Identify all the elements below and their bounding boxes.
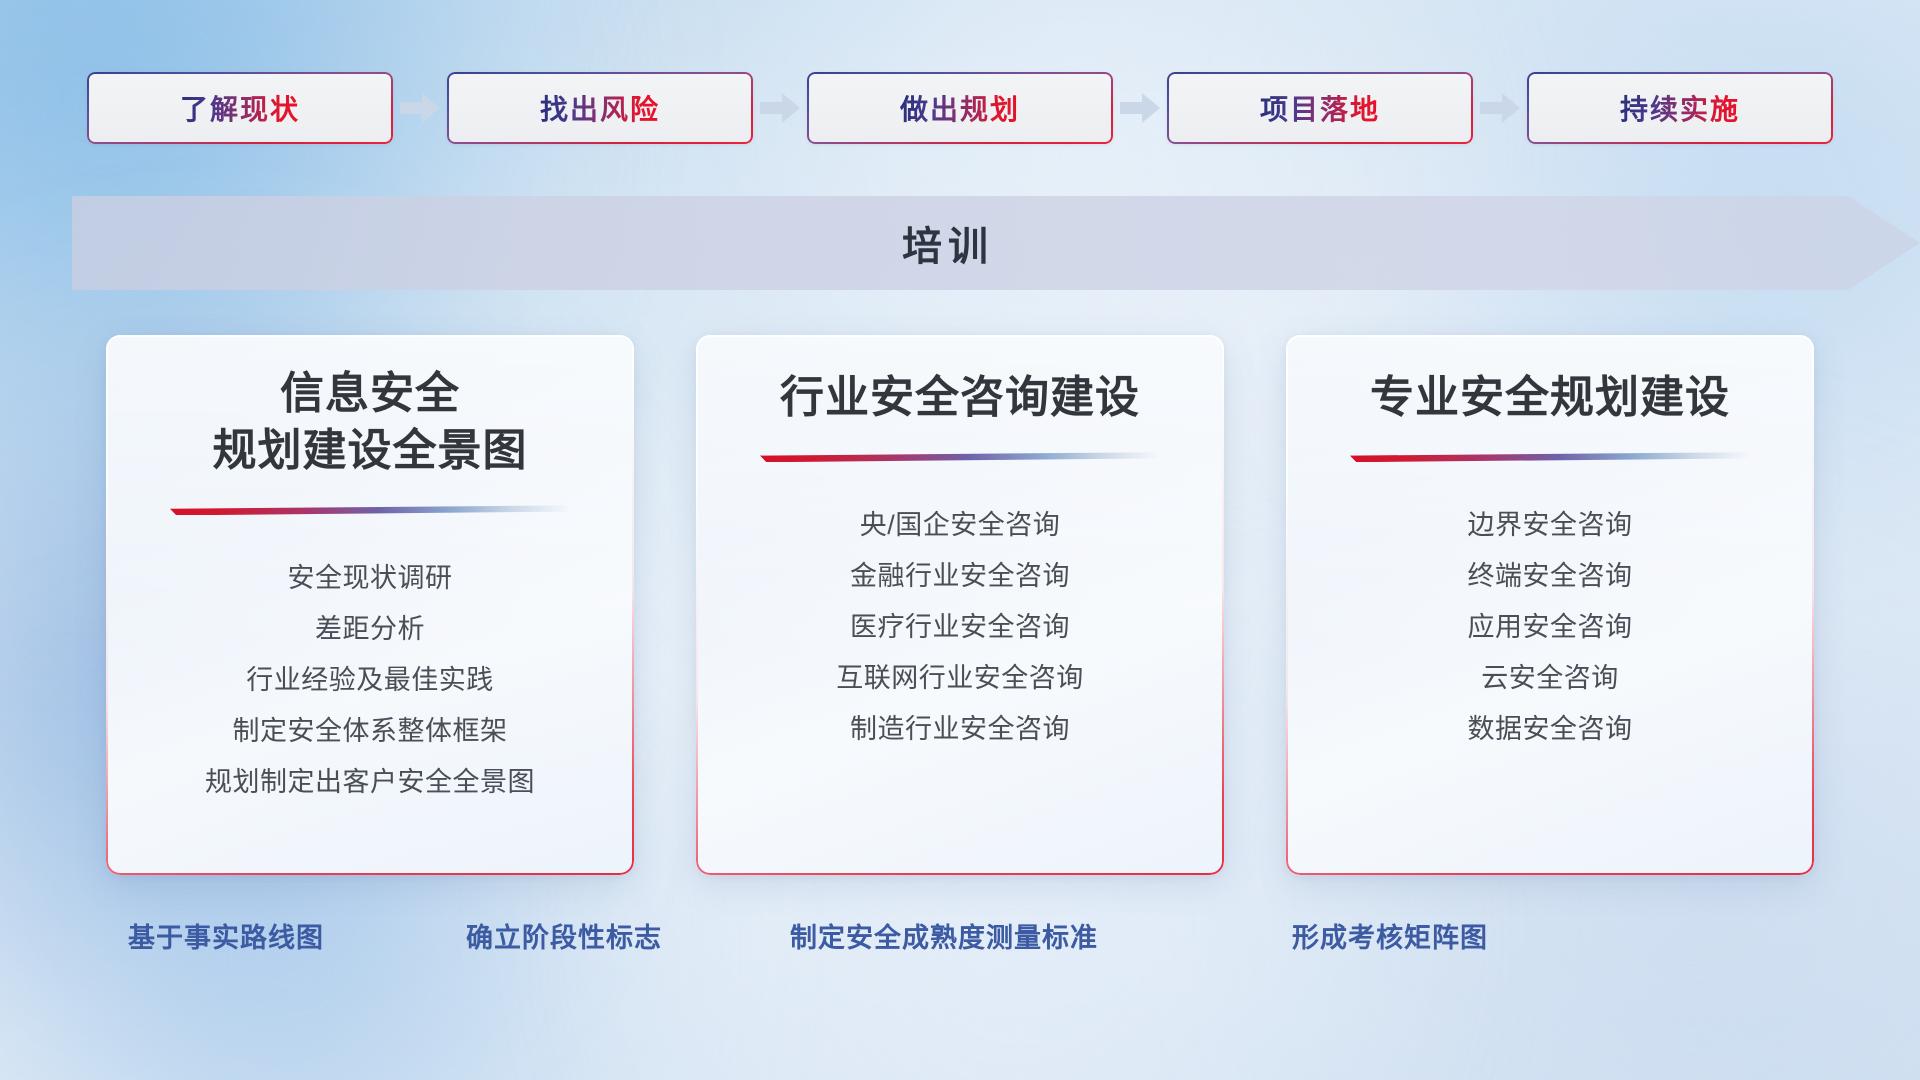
process-arrow-2-icon (753, 72, 807, 144)
list-item: 行业经验及最佳实践 (246, 655, 494, 706)
list-item: 制造行业安全咨询 (850, 704, 1070, 755)
training-banner-label: 培训 (72, 196, 1824, 290)
process-step-3[interactable]: 做出规划 (807, 72, 1113, 144)
list-item: 差距分析 (315, 604, 425, 655)
process-step-4-label: 项目落地 (1260, 88, 1380, 128)
outcome-label-row: 基于事实路线图 确立阶段性标志 制定安全成熟度测量标准 形成考核矩阵图 (0, 916, 1920, 960)
process-step-1[interactable]: 了解现状 (87, 72, 393, 144)
card-divider (760, 452, 1160, 462)
process-step-flow: 了解现状 找出风险 做出规划 项目落地 持续实施 (0, 72, 1920, 144)
list-item: 金融行业安全咨询 (850, 551, 1070, 602)
card-divider (1350, 452, 1750, 462)
card-professional-security-planning[interactable]: 专业安全规划建设 边界安全咨询 终端安全咨询 应用安全咨询 云安全咨询 数据安全… (1286, 335, 1814, 875)
process-step-5-label: 持续实施 (1620, 88, 1740, 128)
process-step-3-label: 做出规划 (900, 88, 1020, 128)
card-title-line: 专业安全规划建设 (1335, 369, 1765, 426)
card-row: 信息安全 规划建设全景图 安全现状调研 差距分析 行业经验及最佳实践 制定安全体… (0, 335, 1920, 875)
list-item: 数据安全咨询 (1468, 704, 1633, 755)
card-title: 信息安全 规划建设全景图 (155, 365, 585, 479)
outcome-label-4: 形成考核矩阵图 (1292, 916, 1488, 955)
card-item-list: 边界安全咨询 终端安全咨询 应用安全咨询 云安全咨询 数据安全咨询 (1468, 500, 1633, 755)
list-item: 终端安全咨询 (1468, 551, 1633, 602)
card-title: 专业安全规划建设 (1335, 369, 1765, 426)
list-item: 云安全咨询 (1481, 653, 1619, 704)
card-industry-security-consulting[interactable]: 行业安全咨询建设 央/国企安全咨询 金融行业安全咨询 医疗行业安全咨询 互联网行… (696, 335, 1224, 875)
list-item: 规划制定出客户安全全景图 (205, 757, 535, 808)
outcome-label-1: 基于事实路线图 (128, 916, 324, 955)
process-step-5[interactable]: 持续实施 (1527, 72, 1833, 144)
training-banner: 培训 (72, 196, 1920, 290)
process-step-4[interactable]: 项目落地 (1167, 72, 1473, 144)
process-arrow-4-icon (1473, 72, 1527, 144)
list-item: 边界安全咨询 (1468, 500, 1633, 551)
card-item-list: 安全现状调研 差距分析 行业经验及最佳实践 制定安全体系整体框架 规划制定出客户… (205, 553, 535, 808)
card-item-list: 央/国企安全咨询 金融行业安全咨询 医疗行业安全咨询 互联网行业安全咨询 制造行… (836, 500, 1084, 755)
card-information-security-panorama[interactable]: 信息安全 规划建设全景图 安全现状调研 差距分析 行业经验及最佳实践 制定安全体… (106, 335, 634, 875)
list-item: 医疗行业安全咨询 (850, 602, 1070, 653)
card-divider (170, 505, 570, 515)
card-title-line: 规划建设全景图 (155, 422, 585, 479)
outcome-label-2: 确立阶段性标志 (466, 916, 662, 955)
outcome-label-3: 制定安全成熟度测量标准 (790, 916, 1098, 955)
process-arrow-3-icon (1113, 72, 1167, 144)
list-item: 应用安全咨询 (1468, 602, 1633, 653)
card-title-line: 信息安全 (155, 365, 585, 422)
card-title: 行业安全咨询建设 (745, 369, 1175, 426)
process-step-2-label: 找出风险 (540, 88, 660, 128)
process-step-1-label: 了解现状 (180, 88, 300, 128)
list-item: 互联网行业安全咨询 (836, 653, 1084, 704)
list-item: 安全现状调研 (288, 553, 453, 604)
process-step-2[interactable]: 找出风险 (447, 72, 753, 144)
card-title-line: 行业安全咨询建设 (745, 369, 1175, 426)
list-item: 央/国企安全咨询 (860, 500, 1061, 551)
process-arrow-1-icon (393, 72, 447, 144)
list-item: 制定安全体系整体框架 (233, 706, 508, 757)
